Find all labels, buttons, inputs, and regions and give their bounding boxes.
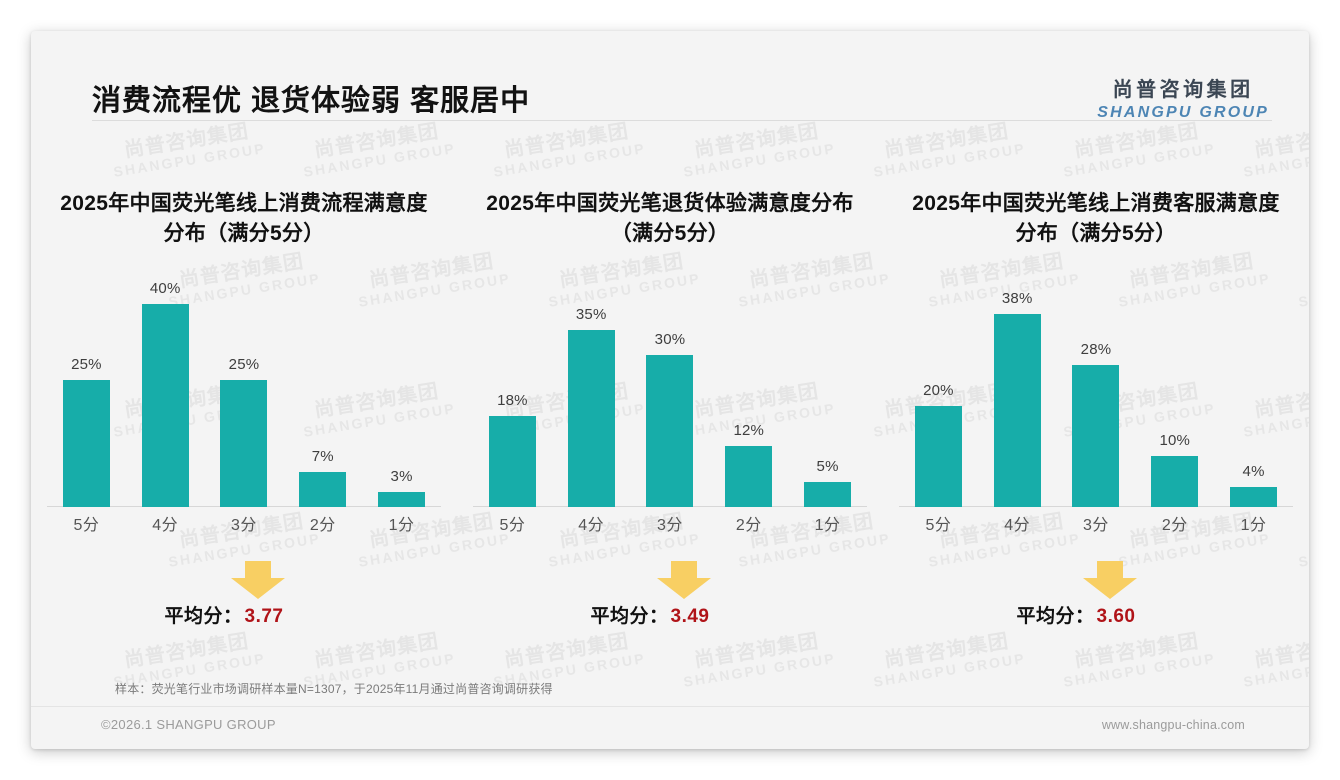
x-axis-tick-label: 2分 — [283, 509, 362, 547]
x-axis-tick-label: 1分 — [1214, 509, 1293, 547]
chart-title: 2025年中国荧光笔退货体验满意度分布（满分5分） — [469, 141, 871, 249]
slide-card: 尚普咨询集团SHANGPU GROUP尚普咨询集团SHANGPU GROUP尚普… — [31, 31, 1309, 749]
bar[interactable] — [725, 446, 772, 507]
bar-value-label: 7% — [312, 448, 334, 465]
average-score-value: 3.60 — [1097, 606, 1136, 627]
bar-value-label: 28% — [1081, 341, 1112, 358]
x-axis-tick-label: 2分 — [1135, 509, 1214, 547]
bar-value-label: 25% — [71, 356, 102, 373]
bar-value-label: 40% — [150, 280, 181, 297]
header-divider — [92, 120, 1272, 121]
bar[interactable] — [915, 406, 962, 507]
bar[interactable] — [489, 416, 536, 507]
bar-slot: 18% — [473, 279, 552, 507]
bar-value-label: 5% — [817, 458, 839, 475]
bar-chart-plot: 18%35%30%12%5%5分4分3分2分1分 — [473, 259, 867, 549]
average-callout: 平均分：3.77 — [79, 561, 409, 645]
bar[interactable] — [646, 355, 693, 507]
bar-slot: 12% — [709, 279, 788, 507]
bar[interactable] — [63, 380, 110, 507]
bar-slot: 25% — [205, 279, 284, 507]
logo-chinese-text: 尚普咨询集团 — [1097, 79, 1269, 102]
bar-slot: 10% — [1135, 279, 1214, 507]
average-score-label: 平均分： — [591, 606, 669, 627]
page-title: 消费流程优 退货体验弱 客服居中 — [92, 77, 530, 119]
bar[interactable] — [142, 304, 189, 507]
x-axis-tick-label: 4分 — [126, 509, 205, 547]
bar[interactable] — [220, 380, 267, 507]
bar-value-label: 25% — [229, 356, 260, 373]
bar[interactable] — [1151, 456, 1198, 507]
bar-chart-plot: 20%38%28%10%4%5分4分3分2分1分 — [899, 259, 1293, 549]
bar-chart-plot: 25%40%25%7%3%5分4分3分2分1分 — [47, 259, 441, 549]
bar[interactable] — [299, 472, 346, 507]
bar-slot: 40% — [126, 279, 205, 507]
bar-slot: 38% — [978, 279, 1057, 507]
average-score-label: 平均分： — [165, 606, 243, 627]
bar[interactable] — [568, 330, 615, 507]
bar-value-label: 12% — [733, 422, 764, 439]
bar-series: 18%35%30%12%5% — [473, 279, 867, 507]
average-score-value: 3.77 — [245, 606, 284, 627]
x-axis-tick-label: 5分 — [47, 509, 126, 547]
down-arrow-icon — [1083, 561, 1137, 599]
average-score-text: 平均分：3.49 — [505, 601, 795, 628]
down-arrow-icon — [231, 561, 285, 599]
x-axis-tick-label: 5分 — [899, 509, 978, 547]
bar-value-label: 35% — [576, 306, 607, 323]
bar-slot: 5% — [788, 279, 867, 507]
x-axis-labels: 5分4分3分2分1分 — [47, 509, 441, 547]
website-url[interactable]: www.shangpu-china.com — [1102, 718, 1245, 732]
bar[interactable] — [1072, 365, 1119, 507]
bar-slot: 28% — [1057, 279, 1136, 507]
chart-panel-2: 2025年中国荧光笔退货体验满意度分布（满分5分）18%35%30%12%5%5… — [457, 141, 883, 681]
x-axis-tick-label: 3分 — [205, 509, 284, 547]
x-axis-tick-label: 4分 — [978, 509, 1057, 547]
bar-slot: 20% — [899, 279, 978, 507]
bar-value-label: 10% — [1159, 432, 1190, 449]
bar-value-label: 30% — [655, 331, 686, 348]
down-arrow-icon — [657, 561, 711, 599]
x-axis-labels: 5分4分3分2分1分 — [899, 509, 1293, 547]
x-axis-tick-label: 2分 — [709, 509, 788, 547]
bar-value-label: 20% — [923, 382, 954, 399]
chart-title: 2025年中国荧光笔线上消费客服满意度分布（满分5分） — [895, 141, 1297, 249]
average-score-value: 3.49 — [671, 606, 710, 627]
bar-slot: 4% — [1214, 279, 1293, 507]
bar-value-label: 3% — [391, 468, 413, 485]
bar-value-label: 4% — [1243, 463, 1265, 480]
charts-row: 2025年中国荧光笔线上消费流程满意度分布（满分5分）25%40%25%7%3%… — [31, 141, 1309, 681]
x-axis-tick-label: 3分 — [631, 509, 710, 547]
bar-slot: 30% — [631, 279, 710, 507]
bar-series: 25%40%25%7%3% — [47, 279, 441, 507]
bar[interactable] — [1230, 487, 1277, 507]
slide-footer: ©2026.1 SHANGPU GROUP www.shangpu-china.… — [31, 707, 1309, 749]
source-footnote: 样本：荧光笔行业市场调研样本量N=1307，于2025年11月通过尚普咨询调研获… — [115, 680, 553, 697]
average-score-text: 平均分：3.77 — [79, 601, 369, 628]
bar-slot: 25% — [47, 279, 126, 507]
chart-panel-1: 2025年中国荧光笔线上消费流程满意度分布（满分5分）25%40%25%7%3%… — [31, 141, 457, 681]
slide-header: 消费流程优 退货体验弱 客服居中 尚普咨询集团 SHANGPU GROUP — [31, 31, 1309, 121]
bar-series: 20%38%28%10%4% — [899, 279, 1293, 507]
average-callout: 平均分：3.60 — [931, 561, 1261, 645]
bar-value-label: 18% — [497, 392, 528, 409]
x-axis-tick-label: 4分 — [552, 509, 631, 547]
bar[interactable] — [804, 482, 851, 507]
bar-value-label: 38% — [1002, 290, 1033, 307]
bar-slot: 35% — [552, 279, 631, 507]
bar[interactable] — [378, 492, 425, 507]
average-score-text: 平均分：3.60 — [931, 601, 1221, 628]
average-callout: 平均分：3.49 — [505, 561, 835, 645]
bar[interactable] — [994, 314, 1041, 507]
x-axis-labels: 5分4分3分2分1分 — [473, 509, 867, 547]
bar-slot: 7% — [283, 279, 362, 507]
x-axis-tick-label: 5分 — [473, 509, 552, 547]
chart-panel-3: 2025年中国荧光笔线上消费客服满意度分布（满分5分）20%38%28%10%4… — [883, 141, 1309, 681]
bar-slot: 3% — [362, 279, 441, 507]
x-axis-tick-label: 1分 — [362, 509, 441, 547]
chart-title: 2025年中国荧光笔线上消费流程满意度分布（满分5分） — [43, 141, 445, 249]
copyright-text: ©2026.1 SHANGPU GROUP — [101, 717, 276, 732]
x-axis-tick-label: 1分 — [788, 509, 867, 547]
brand-logo: 尚普咨询集团 SHANGPU GROUP — [1097, 79, 1269, 122]
average-score-label: 平均分： — [1017, 606, 1095, 627]
x-axis-tick-label: 3分 — [1057, 509, 1136, 547]
